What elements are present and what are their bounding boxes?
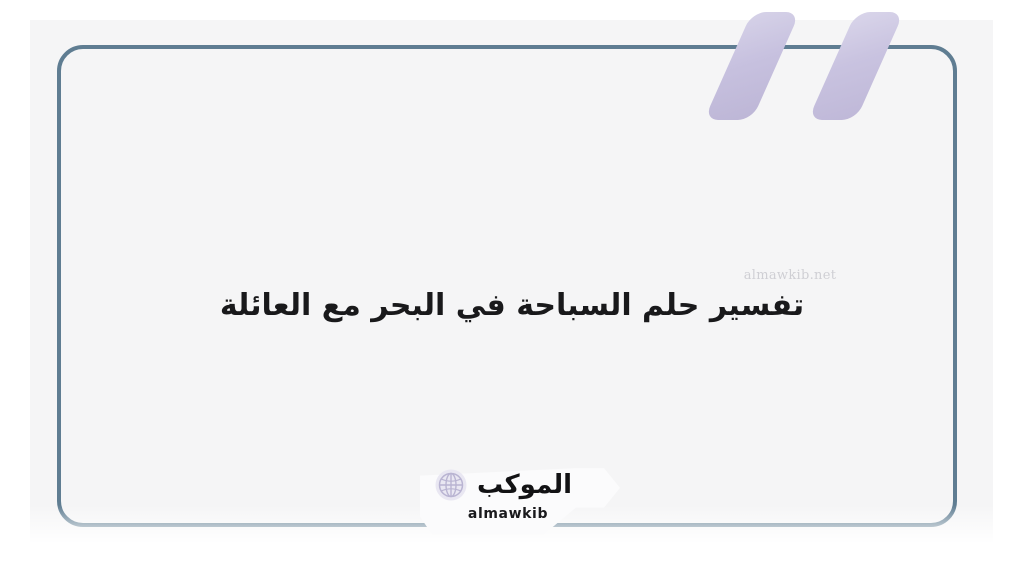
watermark-text: almawkib.net bbox=[700, 268, 880, 283]
page-title: تفسير حلم السباحة في البحر مع العائلة bbox=[0, 286, 1024, 327]
globe-icon bbox=[434, 468, 468, 502]
logo-primary-row: الموكب bbox=[434, 468, 572, 502]
article-card-canvas: تفسير حلم السباحة في البحر مع العائلة al… bbox=[0, 0, 1024, 576]
logo-arabic-name: الموكب bbox=[477, 472, 572, 498]
logo-latin-name: almawkib bbox=[420, 506, 596, 522]
brand-logo[interactable]: الموكب almawkib bbox=[420, 462, 620, 538]
